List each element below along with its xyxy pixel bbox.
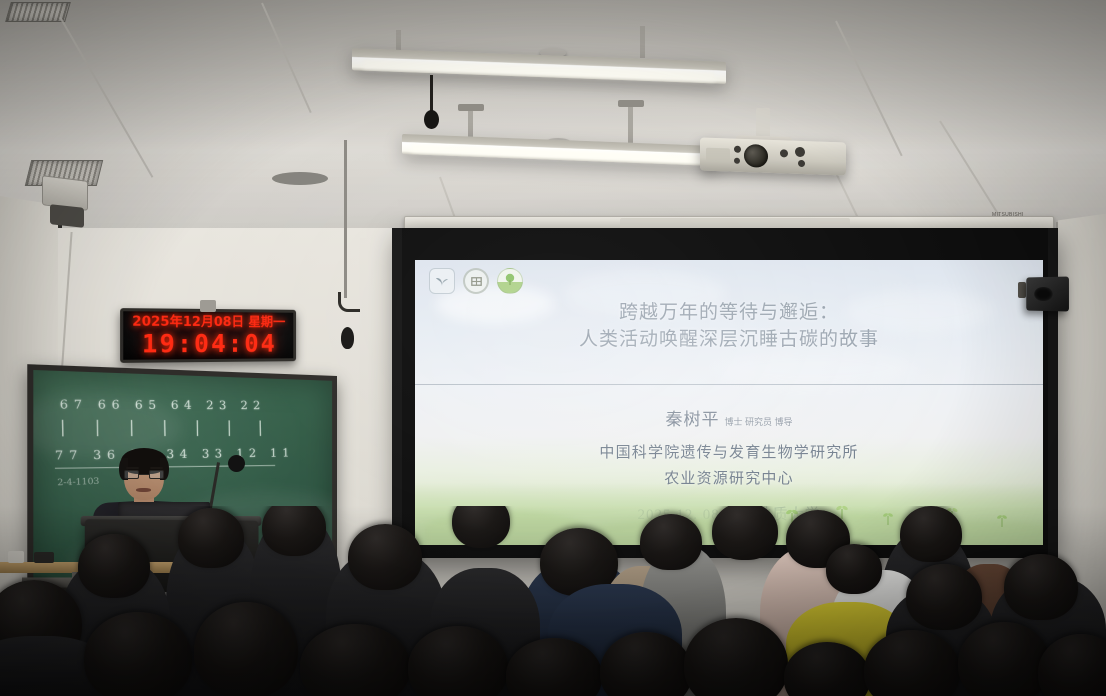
- wall-equipment-dark: [50, 204, 84, 228]
- slide-presenter-name: 秦树平: [665, 410, 719, 429]
- presenter-glasses-icon: [124, 470, 164, 479]
- audience-head: [194, 602, 298, 696]
- audience-head: [900, 506, 962, 562]
- blackboard-row-ticks: | | | | | | |: [59, 417, 273, 437]
- ceiling-access-oval: [272, 172, 328, 185]
- blackboard-row-top: 67 66 65 64 23 22: [60, 397, 266, 412]
- audience-head: [84, 612, 192, 696]
- ceiling-shading: [0, 0, 1106, 250]
- slide-logo-group: [429, 268, 523, 294]
- slide-title-line-2: 人类活动唤醒深层沉睡古碳的故事: [415, 327, 1043, 354]
- projector-port: [780, 149, 788, 157]
- audience-head: [712, 506, 778, 560]
- hanging-microphone-icon: [341, 327, 354, 349]
- audience-head: [178, 508, 244, 568]
- presenter-mouth: [136, 488, 151, 492]
- presenter-brow: [150, 467, 163, 469]
- audience-head: [452, 506, 510, 548]
- slide-divider: [415, 384, 1043, 385]
- audience-head: [640, 514, 702, 570]
- speaker-bracket: [1018, 282, 1026, 298]
- audience-head: [826, 544, 882, 594]
- audience-head: [906, 564, 982, 630]
- hanging-mic-icon: [424, 110, 439, 129]
- slide-title: 跨越万年的等待与邂逅： 人类活动唤醒深层沉睡古碳的故事: [415, 300, 1043, 354]
- slide-presenter-titles: 博士 研究员 博导: [724, 417, 792, 427]
- slide-affiliation-1: 中国科学院遗传与发育生物学研究所: [415, 440, 1043, 466]
- projector-port: [795, 147, 805, 157]
- led-clock-date: 2025年12月08日 星期一: [132, 315, 285, 329]
- fixture-stem: [628, 104, 633, 144]
- led-clock-time: 19:04:04: [142, 330, 277, 356]
- audience-head: [262, 506, 326, 556]
- ceiling: [0, 0, 1106, 250]
- fixture-plate: [618, 100, 644, 107]
- audience-head: [1004, 554, 1078, 620]
- logo-academy-round-icon: [463, 268, 489, 294]
- ceiling-projector: [700, 137, 846, 175]
- audience-head: [958, 622, 1050, 696]
- logo-green-tree-icon: [497, 268, 523, 294]
- screen-brand-label: MITSUBISHI: [992, 212, 1024, 218]
- audience: [0, 506, 1106, 696]
- projector-lens-icon: [744, 144, 768, 168]
- fixture-stem: [640, 26, 645, 58]
- wall-speaker: [1026, 276, 1069, 311]
- lecture-hall-scene: 2025年12月08日 星期一 19:04:04 67 66 65 64 23 …: [0, 0, 1106, 696]
- presenter-brow: [126, 467, 139, 469]
- projector-port: [734, 158, 740, 164]
- audience-head: [348, 524, 422, 590]
- slide-title-line-1: 跨越万年的等待与邂逅：: [415, 300, 1043, 327]
- projector-port: [798, 160, 805, 167]
- hanging-mic-rod: [430, 75, 433, 113]
- projector-brand-plate: [706, 148, 730, 162]
- audience-head: [78, 534, 150, 598]
- slide-presenter-line: 秦树平博士 研究员 博导: [415, 405, 1043, 430]
- led-wall-clock: 2025年12月08日 星期一 19:04:04: [120, 308, 296, 363]
- hanging-microphone-elbow: [338, 292, 360, 312]
- logo-seedling-square-icon: [429, 268, 455, 294]
- projector-port: [734, 146, 741, 153]
- projected-slide: 跨越万年的等待与邂逅： 人类活动唤醒深层沉睡古碳的故事 秦树平博士 研究员 博导…: [415, 260, 1043, 545]
- hanging-microphone-rod: [344, 140, 347, 298]
- lectern-microphone-icon: [228, 455, 245, 472]
- fixture-plate: [458, 104, 484, 111]
- led-clock-mount: [200, 300, 216, 312]
